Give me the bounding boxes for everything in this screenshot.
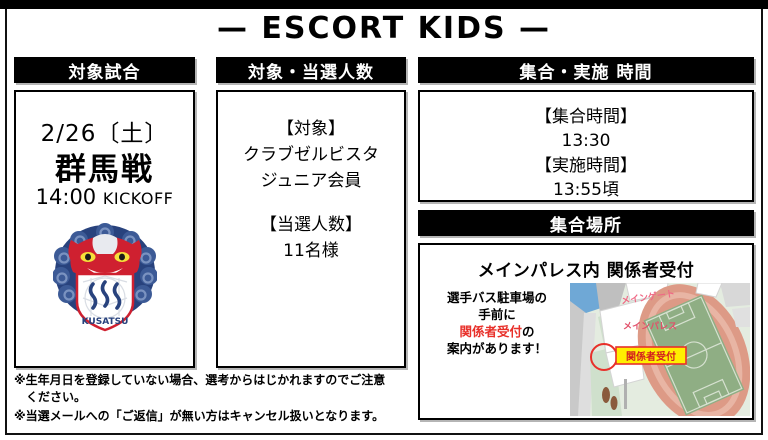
section-header-match: 対象試合 <box>14 57 195 83</box>
venue-map-graphic: メインゲート メインパレス 関係者受付 <box>570 283 750 416</box>
panel-target: 【対象】 クラブゼルビスタ ジュニア会員 【当選人数】 11名様 <box>216 90 406 368</box>
match-opponent: 群馬戦 <box>16 144 193 189</box>
start-time-block: 【実施時間】 13:55頃 <box>420 154 752 202</box>
section-header-time: 集合・実施 時間 <box>418 57 754 83</box>
panel-place: メインパレス内 関係者受付 選手バス駐車場の 手前に 関係者受付の 案内がありま… <box>418 243 754 420</box>
meet-time-block: 【集合時間】 13:30 <box>420 105 752 153</box>
place-note-line-1: 選手バス駐車場の <box>428 289 566 306</box>
place-note-highlight: 関係者受付 <box>459 324 522 339</box>
section-header-time-label: 集合・実施 時間 <box>520 58 653 83</box>
place-note-line-2: 手前に <box>428 306 566 323</box>
start-time-value: 13:55頃 <box>420 178 752 202</box>
target-text-block: 【対象】 クラブゼルビスタ ジュニア会員 【当選人数】 11名様 <box>218 116 404 264</box>
footer-note-1-text: ※生年月日を登録していない場合、選考からはじかれますのでご注意 <box>14 373 385 387</box>
winners-count: 11名様 <box>218 238 404 264</box>
section-header-target: 対象・当選人数 <box>216 57 406 83</box>
target-line-1: クラブゼルビスタ <box>218 142 404 168</box>
map-label-reception: 関係者受付 <box>626 350 676 363</box>
crest-wordmark: KUSATSU <box>81 317 128 327</box>
section-header-target-label: 対象・当選人数 <box>248 58 374 83</box>
club-crest: KUSATSU <box>53 220 157 332</box>
winners-label: 【当選人数】 <box>218 212 404 238</box>
target-line-2: ジュニア会員 <box>218 168 404 194</box>
escort-kids-flyer: — ESCORT KIDS — 対象試合 2/26〔土〕 群馬戦 14:00 K… <box>0 0 768 440</box>
venue-map: メインゲート メインパレス 関係者受付 <box>570 283 750 416</box>
place-title: メインパレス内 関係者受付 <box>420 256 752 281</box>
meet-time-value: 13:30 <box>420 129 752 153</box>
footer-note-1-continued: ください。 <box>14 389 412 406</box>
match-kickoff: 14:00 KICKOFF <box>16 185 193 209</box>
start-time-label: 【実施時間】 <box>420 154 752 178</box>
section-header-place-label: 集合場所 <box>550 211 622 236</box>
target-spacer <box>218 194 404 212</box>
target-label: 【対象】 <box>218 116 404 142</box>
panel-time: 【集合時間】 13:30 【実施時間】 13:55頃 <box>418 90 754 202</box>
panel-match: 2/26〔土〕 群馬戦 14:00 KICKOFF <box>14 90 195 368</box>
section-header-match-label: 対象試合 <box>69 58 141 83</box>
place-note: 選手バス駐車場の 手前に 関係者受付の 案内があります！ <box>428 289 566 357</box>
place-note-suffix: の <box>522 324 535 339</box>
map-label-main-palace: メインパレス <box>623 320 677 332</box>
page-title: — ESCORT KIDS — <box>0 12 768 46</box>
section-header-place: 集合場所 <box>418 210 754 236</box>
place-note-line-3: 関係者受付の <box>428 323 566 340</box>
match-kickoff-time: 14:00 <box>36 185 97 209</box>
meet-time-label: 【集合時間】 <box>420 105 752 129</box>
club-crest-icon: KUSATSU <box>53 220 157 332</box>
match-date: 2/26〔土〕 <box>16 114 193 148</box>
footer-note-1: ※生年月日を登録していない場合、選考からはじかれますのでご注意 ください。 <box>14 372 412 406</box>
footer-notes: ※生年月日を登録していない場合、選考からはじかれますのでご注意 ください。 ※当… <box>14 372 412 425</box>
top-black-strip <box>0 0 768 9</box>
place-note-line-4: 案内があります！ <box>428 340 566 357</box>
footer-note-2: ※当選メールへの「ご返信」が無い方はキャンセル扱いとなります。 <box>14 408 412 425</box>
match-kickoff-label: KICKOFF <box>103 189 174 208</box>
